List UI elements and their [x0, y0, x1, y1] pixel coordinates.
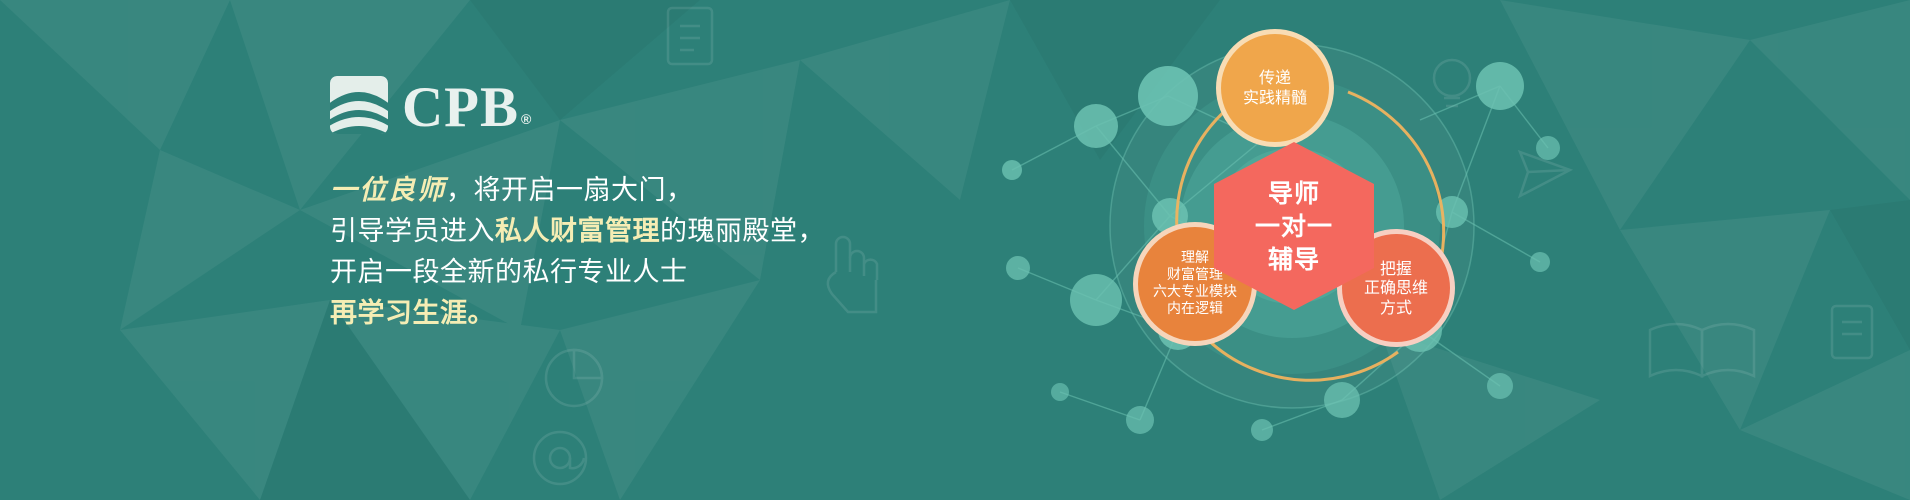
headline-post-2: 的瑰丽殿堂， — [660, 216, 825, 247]
node-left-line-3: 六大专业模块 — [1153, 284, 1237, 301]
headline-accent-4: 再学习生涯。 — [330, 298, 495, 329]
headline-accent-2: 私人财富管理 — [495, 216, 660, 247]
hexagon-line-2: 一对一 — [1255, 210, 1333, 243]
mentorship-diagram: 传递 实践精髓 理解 财富管理 六大专业模块 内在逻辑 把握 正确思维 方式 导… — [1000, 0, 1560, 500]
headline-line-1: 一位良师，将开启一扇大门， — [330, 170, 970, 211]
node-top-line-1: 传递 — [1259, 68, 1291, 88]
cpb-wordmark: CPB® — [402, 79, 530, 136]
node-left-line-4: 内在逻辑 — [1167, 301, 1223, 318]
promo-banner: CPB® 一位良师，将开启一扇大门， 引导学员进入私人财富管理的瑰丽殿堂， 开启… — [0, 0, 1910, 500]
hexagon-line-3: 辅导 — [1268, 243, 1320, 276]
node-right-line-2: 正确思维 — [1364, 278, 1428, 298]
headline-rest-1: ，将开启一扇大门， — [446, 175, 694, 206]
headline-line-2: 引导学员进入私人财富管理的瑰丽殿堂， — [330, 211, 970, 252]
left-content: CPB® 一位良师，将开启一扇大门， 引导学员进入私人财富管理的瑰丽殿堂， 开启… — [330, 72, 970, 334]
headline-text-3: 开启一段全新的私行专业人士 — [330, 257, 688, 288]
node-right-line-1: 把握 — [1380, 259, 1412, 279]
headline: 一位良师，将开启一扇大门， 引导学员进入私人财富管理的瑰丽殿堂， 开启一段全新的… — [330, 170, 970, 334]
headline-accent-1: 一位良师 — [330, 175, 446, 206]
node-top-line-2: 实践精髓 — [1243, 88, 1307, 108]
hexagon-line-1: 导师 — [1268, 177, 1320, 210]
cpb-wordmark-text: CPB — [402, 76, 519, 139]
node-left-line-1: 理解 — [1181, 250, 1209, 267]
headline-pre-2: 引导学员进入 — [330, 216, 495, 247]
registered-mark-icon: ® — [521, 111, 532, 127]
node-right-line-3: 方式 — [1380, 298, 1412, 318]
cpb-mark-icon — [330, 76, 388, 134]
brand-logo: CPB® — [330, 72, 970, 134]
node-left-line-2: 财富管理 — [1167, 267, 1223, 284]
headline-line-3: 开启一段全新的私行专业人士 — [330, 252, 970, 293]
headline-line-4: 再学习生涯。 — [330, 293, 970, 334]
diagram-node-top[interactable]: 传递 实践精髓 — [1216, 29, 1334, 147]
